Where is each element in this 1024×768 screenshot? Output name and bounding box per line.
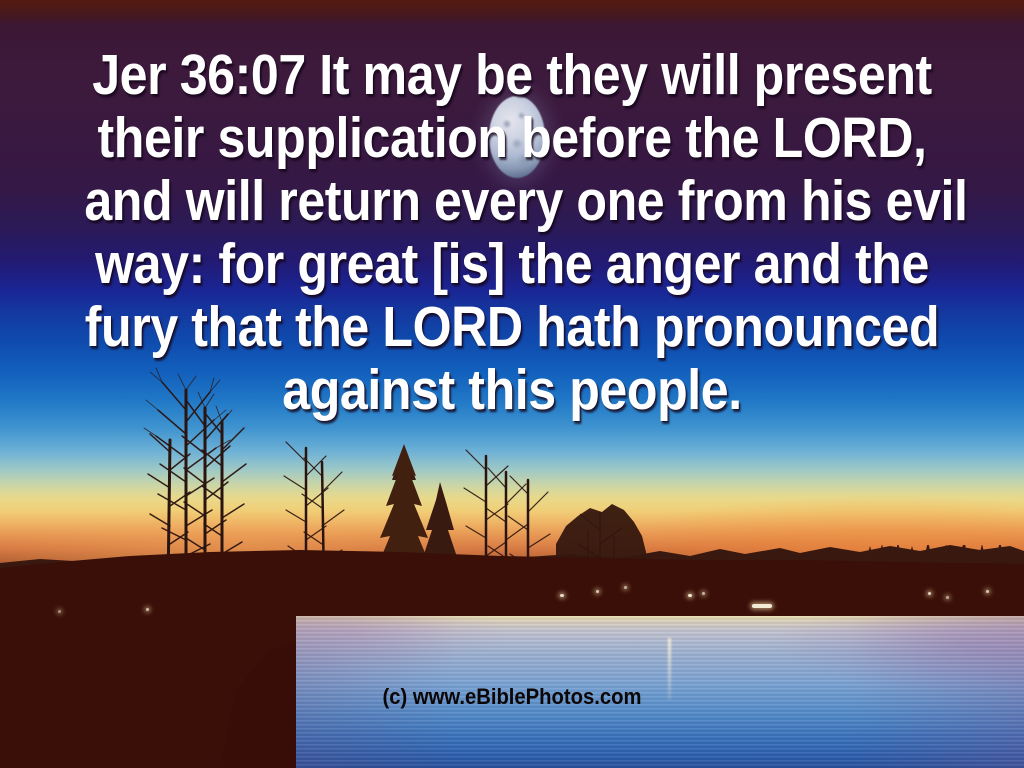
- shore-light: [624, 586, 627, 589]
- shore-light: [946, 596, 949, 599]
- shore-light: [146, 608, 149, 611]
- shore-light: [702, 592, 705, 595]
- copyright-watermark: (c) www.eBiblePhotos.com: [41, 684, 983, 710]
- verse-image-canvas: Jer 36:07 It may be they will present th…: [0, 0, 1024, 768]
- shore-light: [688, 594, 692, 597]
- shore-light-streak: [752, 604, 772, 608]
- shore-light: [596, 590, 599, 593]
- shore-light: [928, 592, 931, 595]
- shore-light: [560, 594, 564, 597]
- shore-light: [58, 610, 61, 613]
- sky-top-warm-band: [0, 0, 1024, 26]
- moon-icon: [489, 96, 545, 178]
- shore-light: [986, 590, 989, 593]
- moon-craters: [489, 96, 545, 178]
